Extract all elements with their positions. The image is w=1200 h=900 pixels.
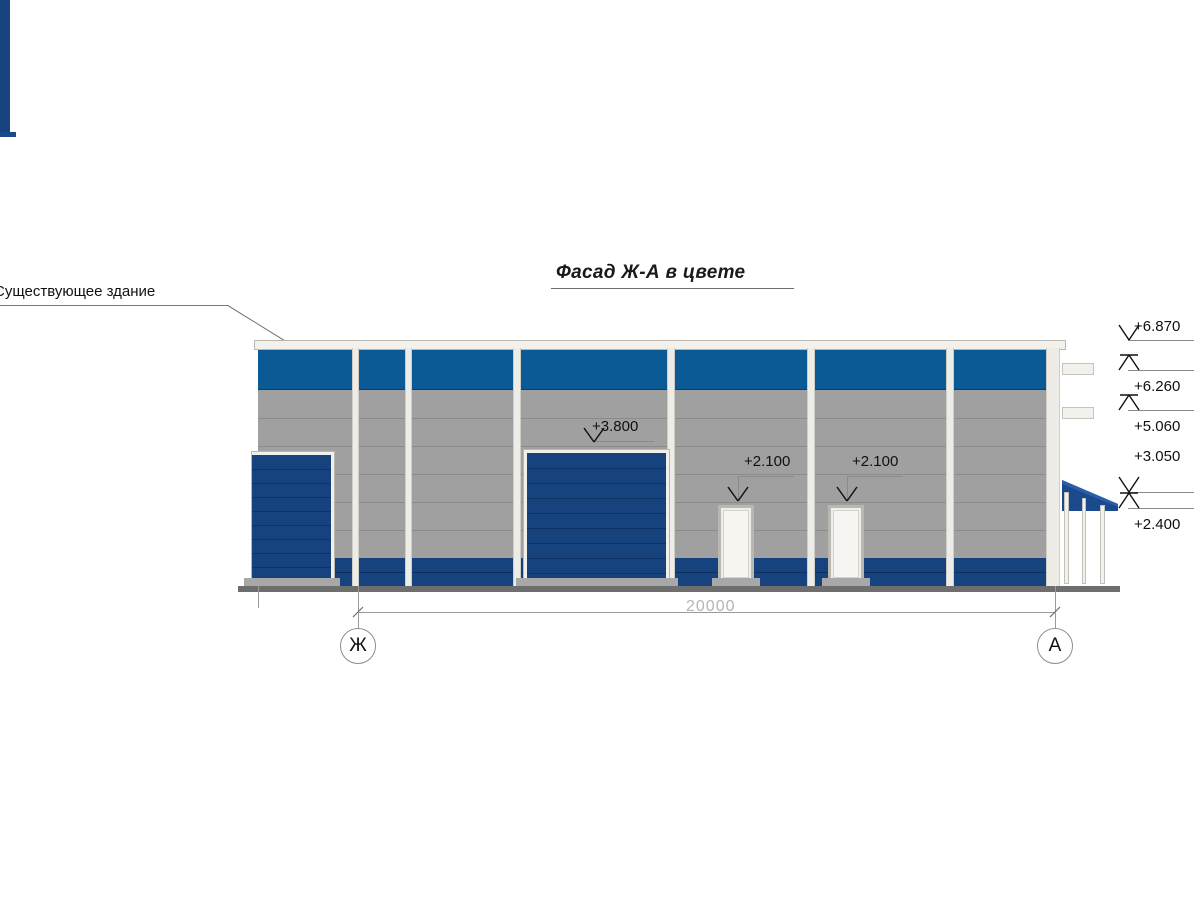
door-threshold [712, 578, 760, 586]
gate-slat [252, 469, 331, 470]
wall-joint-line [258, 446, 1060, 447]
canopy-post [1082, 498, 1086, 584]
door-threshold [822, 578, 870, 586]
gate-slat [527, 528, 666, 529]
gate-slat [252, 553, 331, 554]
wall-pilaster [513, 348, 521, 586]
gate-slat [527, 543, 666, 544]
level-mark-label-3: +3.050 [1134, 448, 1180, 465]
level-arrow-up [1118, 492, 1140, 512]
gate-slat [252, 483, 331, 484]
wall-pilaster [352, 348, 359, 586]
gate-slat [252, 567, 331, 568]
gate-threshold [244, 578, 340, 586]
gate-slat [252, 511, 331, 512]
opening-arrow-down-0 [583, 427, 605, 445]
opening-mark-label-2: +2.100 [852, 453, 898, 470]
dimension-value: 20000 [686, 598, 736, 616]
annotation-existing-building: Существующее здание [0, 283, 155, 300]
gate-marker-nub [0, 132, 16, 137]
opening-mark-label-1: +2.100 [744, 453, 790, 470]
ground-line [238, 586, 1120, 592]
opening-arrow-down-2 [836, 486, 858, 504]
title-underline [551, 288, 794, 289]
annotation-underline [0, 305, 228, 306]
gate-slat [527, 468, 666, 469]
level-mark-label-0: +6.870 [1134, 318, 1180, 335]
sectional-gate-left[interactable] [252, 452, 334, 582]
door-left[interactable] [718, 505, 754, 583]
building-elevation [0, 0, 1200, 137]
level-mark-label-2: +5.060 [1134, 418, 1180, 435]
level-arrow-up [1118, 354, 1140, 374]
wall-pilaster [946, 348, 954, 586]
gate-slat [527, 558, 666, 559]
axis-label-0: Ж [340, 628, 376, 664]
wall-pilaster [807, 348, 815, 586]
wall-louver-upper [1062, 363, 1094, 375]
opening-leader-h-1 [738, 476, 794, 477]
gate-slat [527, 513, 666, 514]
gate-slat [527, 498, 666, 499]
wall-joint-line [258, 389, 1060, 390]
level-arrow-up [1118, 394, 1140, 414]
gate-slat [527, 573, 666, 574]
wall-louver-lower [1062, 407, 1094, 419]
level-arrow-down [1118, 324, 1140, 344]
gate-slat [252, 497, 331, 498]
parapet-coping [254, 340, 1066, 350]
drawing-sheet: Фасад Ж-А в цвете Существующее здание АЛ… [0, 0, 1200, 900]
door-right[interactable] [828, 505, 864, 583]
sectional-gate-left-edge [0, 0, 10, 132]
wall-band-top-blue [258, 350, 1060, 390]
door-panel [723, 510, 749, 578]
opening-arrow-down-1 [727, 486, 749, 504]
entrance-canopy [1060, 478, 1120, 517]
wall-pilaster [405, 348, 412, 586]
page-title: Фасад Ж-А в цвете [556, 262, 745, 284]
wall-pilaster [1046, 348, 1060, 586]
sectional-gate-center[interactable] [524, 450, 669, 583]
opening-leader-h-2 [847, 476, 903, 477]
gate-threshold [516, 578, 678, 586]
level-mark-label-4: +2.400 [1134, 516, 1180, 533]
gate-slat [252, 525, 331, 526]
door-panel [833, 510, 859, 578]
extension-line-facade [258, 586, 259, 608]
gate-slat [527, 483, 666, 484]
canopy-post [1100, 505, 1105, 584]
gate-slat [252, 539, 331, 540]
wall-joint-line [258, 418, 1060, 419]
canopy-post [1064, 492, 1069, 584]
axis-label-1: А [1037, 628, 1073, 664]
level-mark-label-1: +6.260 [1134, 378, 1180, 395]
